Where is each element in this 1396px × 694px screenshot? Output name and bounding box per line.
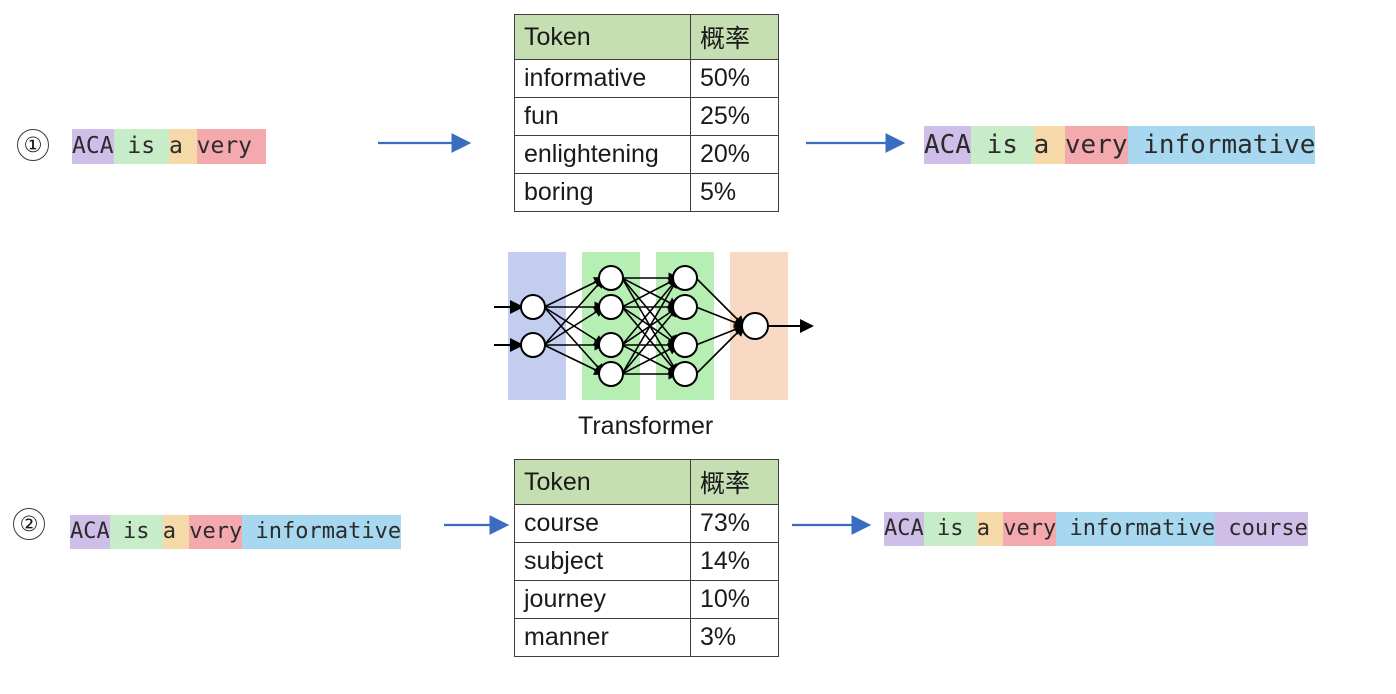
hidden1-node [599,333,623,357]
hidden2-node [673,266,697,290]
hidden2-node [673,362,697,386]
cell-probability: 5% [691,174,779,212]
arrow-step1-input-to-table [378,130,478,156]
token-chip: a [1034,126,1065,164]
column-header-token: Token [515,460,691,505]
input-node [521,295,545,319]
step-1-output-sequence: ACA is a very informative [924,126,1315,164]
step-1-probability-table: Token 概率 informative 50% fun 25% enlight… [514,14,779,212]
cell-probability: 25% [691,98,779,136]
cell-probability: 20% [691,136,779,174]
arrow-step1-table-to-output [806,130,912,156]
cell-token: manner [515,619,691,657]
column-header-probability: 概率 [691,460,779,505]
table-row: journey 10% [515,581,779,619]
token-chip: very [1065,126,1128,164]
table-header-row: Token 概率 [515,15,779,60]
input-node [521,333,545,357]
cell-token: fun [515,98,691,136]
token-chip: ACA [70,515,110,549]
token-chip: ACA [924,126,971,164]
step-2-input-sequence: ACA is a very informative [70,515,401,549]
table-header-row: Token 概率 [515,460,779,505]
arrow-step2-input-to-table [444,512,516,538]
cell-token: informative [515,60,691,98]
hidden1-node [599,295,623,319]
token-chip: a [163,515,190,549]
transformer-network-diagram [494,252,814,400]
table-row: subject 14% [515,543,779,581]
cell-token: course [515,505,691,543]
token-chip: is [110,515,163,549]
cell-probability: 3% [691,619,779,657]
token-chip: very [197,129,266,164]
token-chip: informative [242,515,401,549]
cell-probability: 50% [691,60,779,98]
output-node [742,313,768,339]
hidden1-node [599,266,623,290]
hidden2-node [673,295,697,319]
step-marker-2: ② [13,508,45,540]
token-chip: very [189,515,242,549]
token-chip: ACA [884,512,924,546]
token-chip: a [977,512,1004,546]
arrow-step2-table-to-output [792,512,878,538]
column-header-token: Token [515,15,691,60]
input-layer-band [508,252,566,400]
step-marker-1: ① [17,129,49,161]
step-number-circle-1: ① [17,129,49,161]
token-chip: informative [1056,512,1215,546]
token-chip: is [114,129,169,164]
transformer-caption: Transformer [578,412,713,441]
token-chip: course [1215,512,1308,546]
token-chip: informative [1128,126,1316,164]
token-chip: a [169,129,197,164]
step-2-probability-table: Token 概率 course 73% subject 14% journey … [514,459,779,657]
table-row: fun 25% [515,98,779,136]
token-chip: is [924,512,977,546]
step-1-input-sequence: ACA is a very [72,129,266,164]
cell-probability: 10% [691,581,779,619]
token-chip: ACA [72,129,114,164]
token-chip: is [971,126,1034,164]
step-2-output-sequence: ACA is a very informative course [884,512,1308,546]
table-row: course 73% [515,505,779,543]
table-row: enlightening 20% [515,136,779,174]
cell-token: journey [515,581,691,619]
table-row: manner 3% [515,619,779,657]
table-row: informative 50% [515,60,779,98]
cell-probability: 14% [691,543,779,581]
table-row: boring 5% [515,174,779,212]
column-header-probability: 概率 [691,15,779,60]
token-chip: very [1003,512,1056,546]
hidden1-node [599,362,623,386]
step-number-circle-2: ② [13,508,45,540]
cell-token: boring [515,174,691,212]
cell-probability: 73% [691,505,779,543]
cell-token: subject [515,543,691,581]
hidden2-node [673,333,697,357]
cell-token: enlightening [515,136,691,174]
